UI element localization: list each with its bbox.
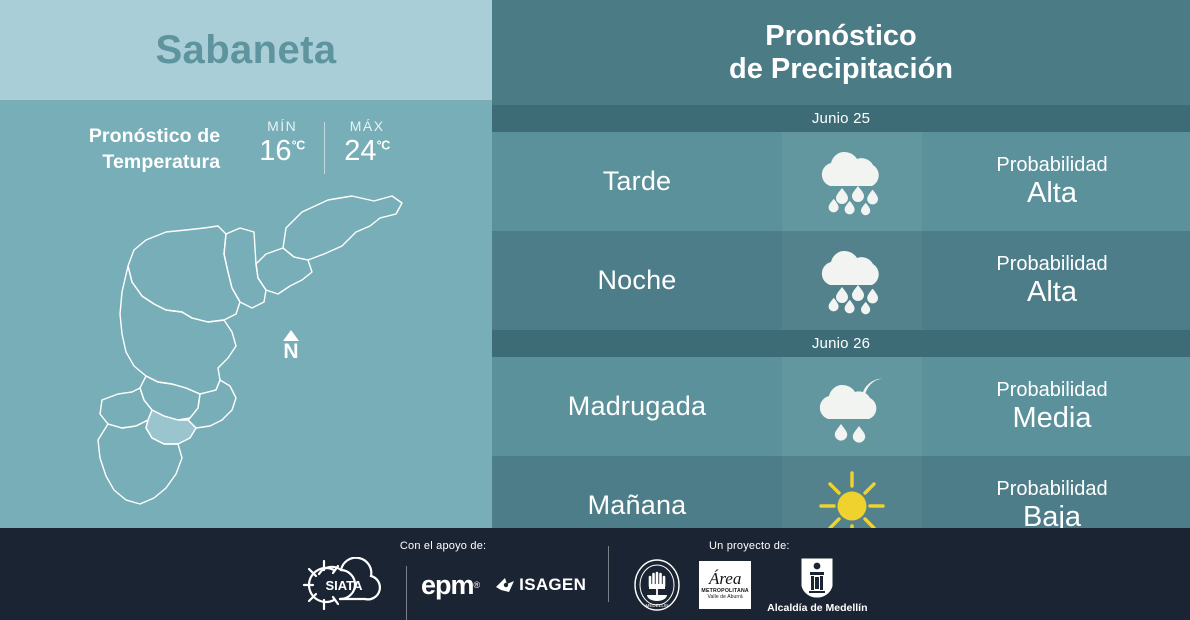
- probability-madrugada: Probabilidad Media: [922, 357, 1190, 456]
- temperature-min-unit: °C: [292, 138, 305, 152]
- date-band-junio-25: Junio 25: [492, 105, 1190, 132]
- isagen-mark-icon: [494, 575, 516, 595]
- period-label-madrugada: Madrugada: [492, 357, 782, 456]
- city-band: Sabaneta: [0, 0, 492, 100]
- udem-wordmark: MEDELLÍN: [646, 602, 669, 608]
- probability-caption: Probabilidad: [996, 252, 1107, 276]
- forecast-row-tarde: Tarde Probabilidad Alta: [492, 132, 1190, 231]
- forecast-row-noche: Noche Probabilidad Alta: [492, 231, 1190, 330]
- siata-logo: SIATA: [300, 557, 392, 613]
- project-logo-row: MEDELLÍN Área METROPOLITANA Valle de Abu…: [631, 554, 867, 616]
- probability-caption: Probabilidad: [996, 477, 1107, 501]
- siata-wordmark: SIATA: [325, 578, 363, 593]
- footer-project-group: Un proyecto de: MEDELLÍN: [631, 528, 867, 620]
- date-band-junio-26: Junio 26: [492, 330, 1190, 357]
- footer-support-group: Con el apoyo de:: [300, 528, 586, 620]
- forecast-title: Pronóstico de Precipitación: [492, 0, 1190, 105]
- probability-caption: Probabilidad: [996, 153, 1107, 177]
- epm-registered-mark: ®: [474, 580, 481, 590]
- forecast-title-line1: Pronóstico: [765, 20, 916, 53]
- compass-label: N: [276, 342, 306, 362]
- temperature-max: MÁX 24°C: [331, 118, 403, 168]
- left-panel: Sabaneta Pronóstico de Temperatura MÍN 1…: [0, 0, 492, 528]
- map-municipality-barbosa: [283, 196, 402, 260]
- probability-value: Media: [1013, 402, 1092, 435]
- valle-de-aburra-map: [40, 162, 440, 522]
- footer-divider-main: [608, 546, 609, 602]
- map-municipality-copacabana: [224, 228, 266, 308]
- rain-cloud-icon: [782, 132, 922, 231]
- map-municipality-itagui: [140, 376, 200, 420]
- probability-noche: Probabilidad Alta: [922, 231, 1190, 330]
- alcaldia-wordmark: Alcaldía de Medellín: [767, 602, 867, 614]
- temperature-title-line1: Pronóstico de: [89, 123, 220, 149]
- footer: Con el apoyo de:: [0, 528, 1190, 620]
- map-municipality-bello: [128, 226, 240, 322]
- footer-divider: [406, 566, 407, 620]
- isagen-wordmark: ISAGEN: [519, 575, 586, 595]
- period-label-tarde: Tarde: [492, 132, 782, 231]
- footer-logo-groups: Con el apoyo de:: [300, 528, 868, 620]
- map-municipality-medellin: [120, 266, 236, 394]
- compass-north-icon: N: [276, 330, 306, 362]
- project-caption: Un proyecto de:: [631, 540, 867, 554]
- temperature-max-label: MÁX: [331, 118, 403, 134]
- period-label-noche: Noche: [492, 231, 782, 330]
- forecast-title-line2: de Precipitación: [729, 53, 953, 86]
- forecast-row-madrugada: Madrugada Probabilidad Media: [492, 357, 1190, 456]
- weather-infographic: Sabaneta Pronóstico de Temperatura MÍN 1…: [0, 0, 1190, 620]
- probability-tarde: Probabilidad Alta: [922, 132, 1190, 231]
- map-municipality-envigado: [188, 380, 236, 428]
- support-caption: Con el apoyo de:: [300, 540, 586, 554]
- precipitation-forecast-panel: Pronóstico de Precipitación Junio 25 Tar…: [492, 0, 1190, 528]
- page-title: Sabaneta: [155, 28, 336, 73]
- probability-value: Alta: [1027, 276, 1077, 309]
- moon-rain-cloud-icon: [782, 357, 922, 456]
- temperature-min-label: MÍN: [246, 118, 318, 134]
- support-logo-row: SIATA epm® ISAGEN: [300, 554, 586, 616]
- epm-logo: epm®: [421, 570, 480, 601]
- universidad-medellin-seal: MEDELLÍN: [631, 557, 683, 613]
- area-script-wordmark: Área: [709, 571, 741, 587]
- probability-value: Alta: [1027, 177, 1077, 210]
- epm-wordmark: epm: [421, 570, 474, 601]
- alcaldia-medellin-logo: Alcaldía de Medellín: [767, 557, 867, 614]
- rain-cloud-icon: [782, 231, 922, 330]
- probability-caption: Probabilidad: [996, 378, 1107, 402]
- area-line2: Valle de Aburrá: [707, 594, 742, 600]
- temperature-max-unit: °C: [377, 138, 390, 152]
- alcaldia-shield-icon: [800, 557, 834, 599]
- temperature-min: MÍN 16°C: [246, 118, 318, 168]
- area-metropolitana-logo: Área METROPOLITANA Valle de Aburrá: [699, 561, 751, 609]
- isagen-logo: ISAGEN: [494, 575, 586, 595]
